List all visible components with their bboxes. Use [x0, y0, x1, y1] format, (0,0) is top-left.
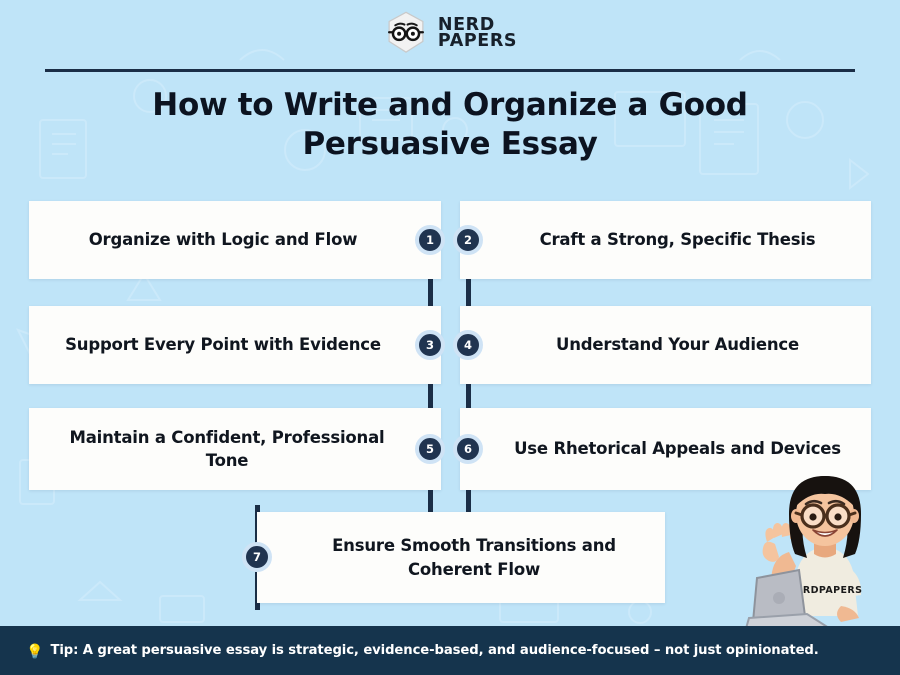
step-card-2[interactable]: Craft a Strong, Specific Thesis: [460, 201, 871, 279]
step-badge-6[interactable]: 6: [453, 434, 483, 464]
step-badge-1[interactable]: 1: [415, 225, 445, 255]
lightbulb-icon: 💡: [26, 644, 43, 658]
nerd-face-logo-icon: [383, 10, 429, 56]
step-card-5-label: Maintain a Confident, Professional Tone: [47, 426, 407, 473]
step-row-3: Maintain a Confident, Professional Tone …: [0, 408, 900, 490]
step-card-5[interactable]: Maintain a Confident, Professional Tone: [29, 408, 441, 490]
step-card-1[interactable]: Organize with Logic and Flow: [29, 201, 441, 279]
step-row-2: Support Every Point with Evidence Unders…: [0, 306, 900, 384]
step-card-2-label: Craft a Strong, Specific Thesis: [540, 228, 816, 251]
infographic-canvas: NERD PAPERS How to Write and Organize a …: [0, 0, 900, 675]
step-card-6[interactable]: Use Rhetorical Appeals and Devices: [460, 408, 871, 490]
footer-tip-bar: 💡 Tip: A great persuasive essay is strat…: [0, 626, 900, 675]
step-card-7-label: Ensure Smooth Transitions and Coherent F…: [305, 534, 643, 581]
step-card-4[interactable]: Understand Your Audience: [460, 306, 871, 384]
step-badge-7[interactable]: 7: [242, 542, 272, 572]
step-card-6-label: Use Rhetorical Appeals and Devices: [514, 437, 841, 460]
page-title: How to Write and Organize a Good Persuas…: [110, 86, 790, 165]
step-badge-5[interactable]: 5: [415, 434, 445, 464]
header-divider-rule: [45, 69, 855, 72]
logo-text-line-2: PAPERS: [438, 33, 517, 49]
footer-tip-text: Tip: A great persuasive essay is strateg…: [50, 643, 818, 658]
footer-tip-content: 💡 Tip: A great persuasive essay is strat…: [0, 643, 819, 658]
step-card-4-label: Understand Your Audience: [556, 333, 799, 356]
step-badge-3[interactable]: 3: [415, 330, 445, 360]
step-card-7[interactable]: Ensure Smooth Transitions and Coherent F…: [257, 512, 665, 603]
step-badge-4[interactable]: 4: [453, 330, 483, 360]
step-card-3[interactable]: Support Every Point with Evidence: [29, 306, 441, 384]
step-card-1-label: Organize with Logic and Flow: [89, 228, 358, 251]
step-row-1: Organize with Logic and Flow Craft a Str…: [0, 201, 900, 279]
step-row-4: Ensure Smooth Transitions and Coherent F…: [0, 512, 900, 603]
step-badge-2[interactable]: 2: [453, 225, 483, 255]
step-card-3-label: Support Every Point with Evidence: [65, 333, 381, 356]
brand-logo: NERD PAPERS: [0, 8, 900, 58]
